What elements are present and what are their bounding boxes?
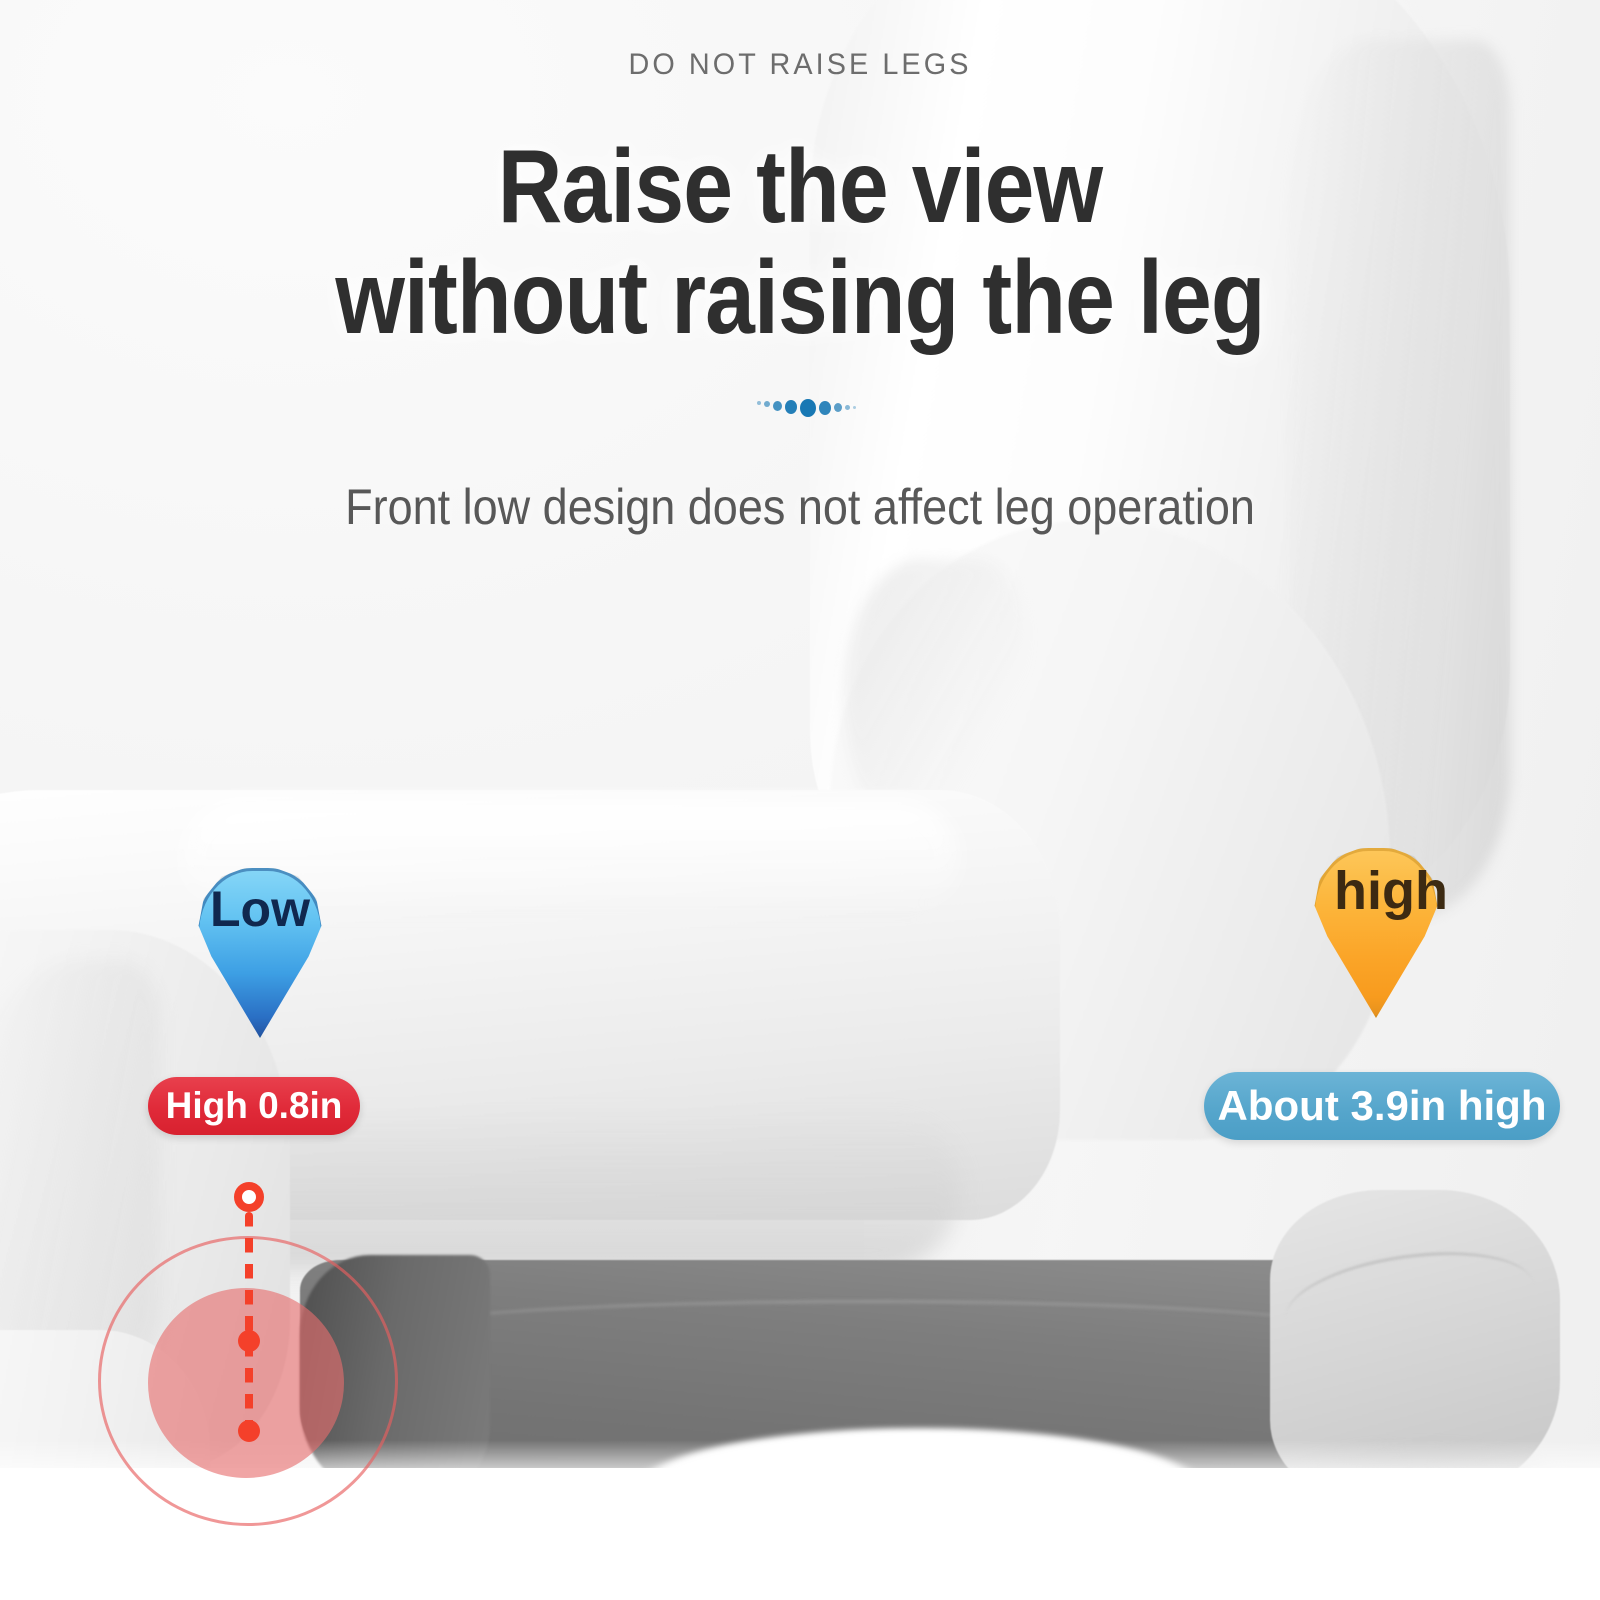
- map-pin-high: high: [1312, 848, 1440, 1018]
- decorative-dot-arc: [757, 392, 867, 422]
- callout-dot-upper: [238, 1330, 260, 1352]
- dot-2: [764, 401, 770, 407]
- dot-3: [773, 401, 782, 411]
- dot-6: [819, 401, 831, 415]
- subtitle-text: Front low design does not affect leg ope…: [80, 478, 1520, 536]
- callout-dot-lower: [238, 1420, 260, 1442]
- front-height-badge: High 0.8in: [148, 1077, 360, 1135]
- map-pin-low-label: Low: [196, 884, 324, 934]
- dot-5: [800, 399, 816, 417]
- callout-ring-icon: [234, 1182, 264, 1212]
- headline-line-2: without raising the leg: [112, 243, 1488, 354]
- dot-1: [757, 401, 761, 405]
- page-title: Raise the view without raising the leg: [0, 132, 1600, 355]
- headline-line-1: Raise the view: [112, 132, 1488, 243]
- callout-dashed-line: [245, 1212, 253, 1442]
- dot-7: [834, 403, 842, 412]
- map-pin-low: Low: [196, 868, 324, 1038]
- infographic-canvas: DO NOT RAISE LEGS Raise the view without…: [0, 0, 1600, 1600]
- dot-9: [853, 406, 856, 409]
- map-pin-high-label: high: [1316, 864, 1466, 918]
- rear-height-badge: About 3.9in high: [1204, 1072, 1560, 1140]
- eyebrow-text: DO NOT RAISE LEGS: [32, 48, 1568, 82]
- dot-8: [845, 405, 850, 410]
- seat-cushion-seam: [360, 1300, 1380, 1373]
- dot-4: [785, 400, 797, 414]
